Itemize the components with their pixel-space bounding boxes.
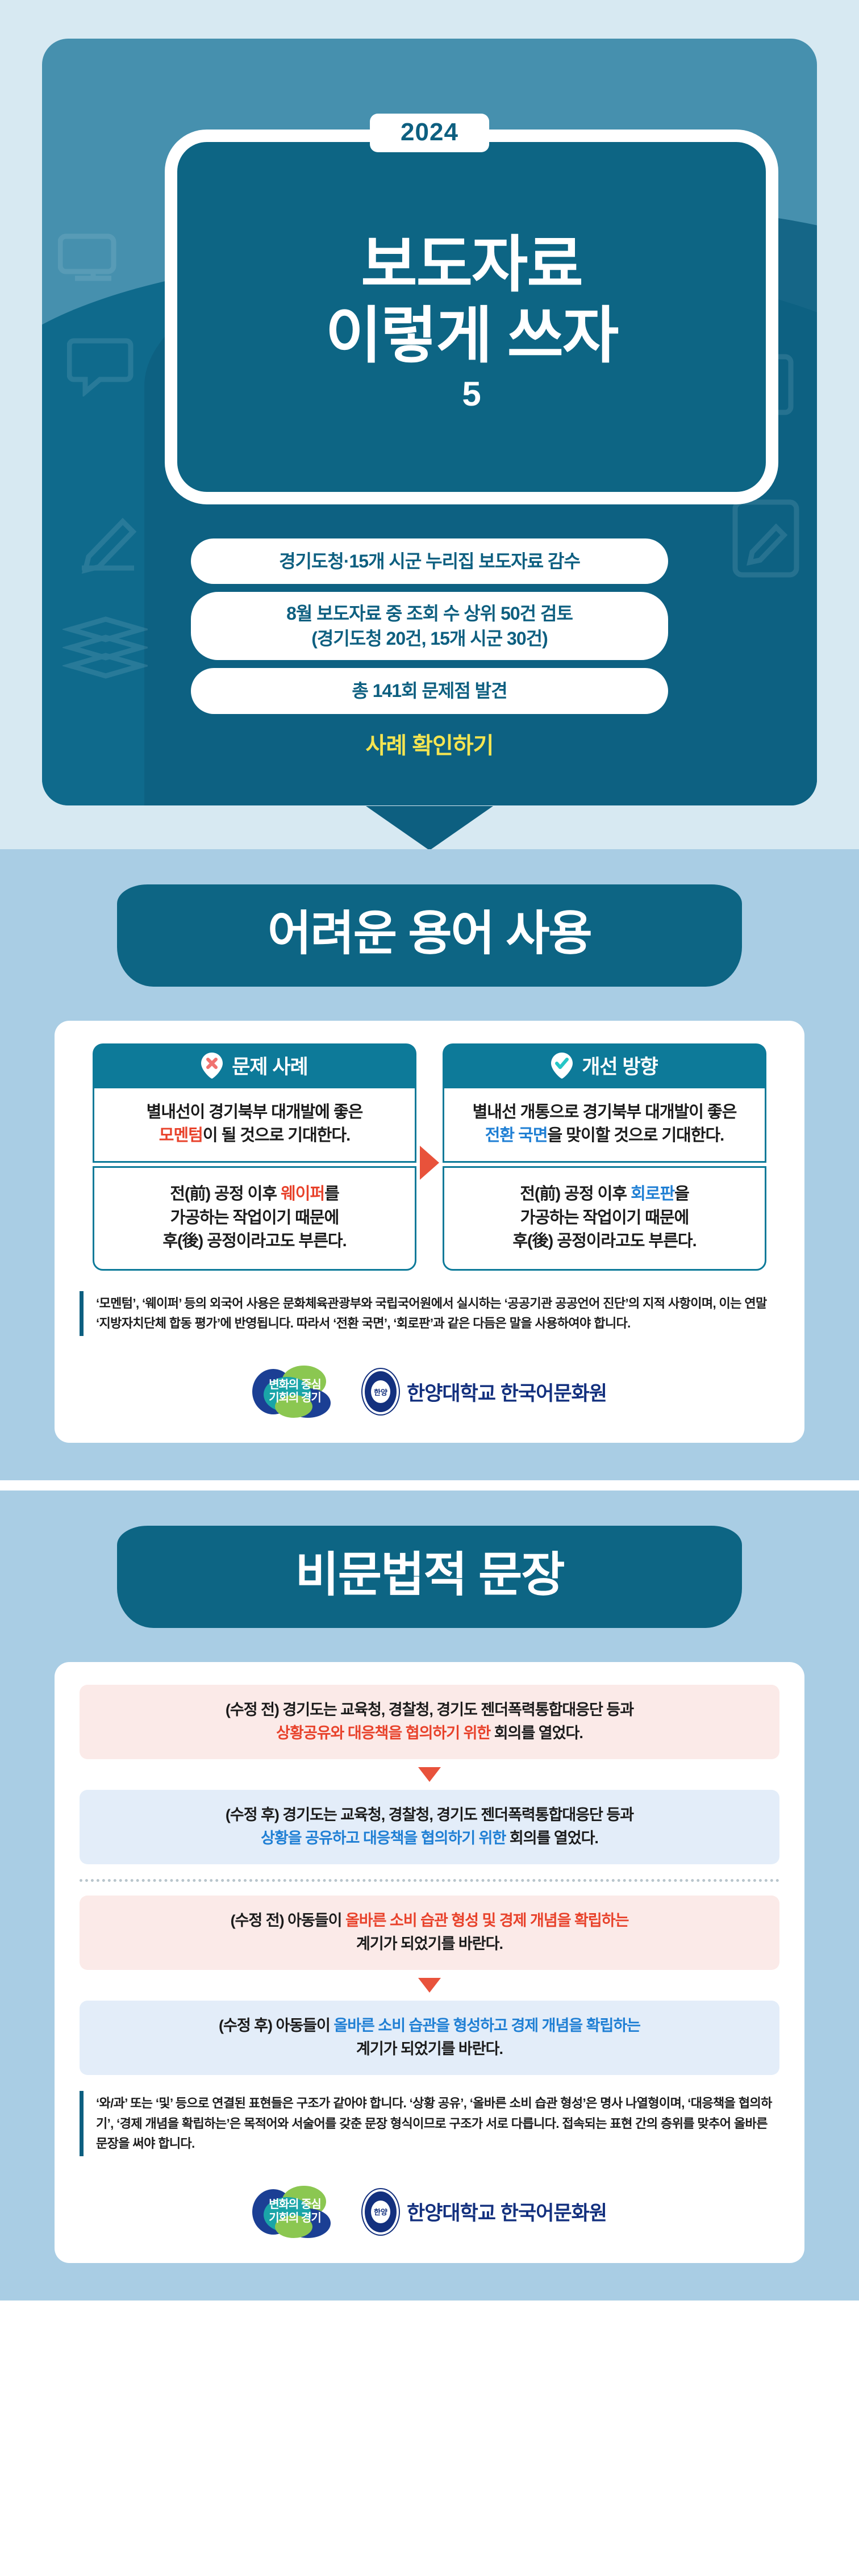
gyeonggi-logo-line2: 기회의 경기 (269, 1392, 321, 1404)
section3-pair2-before-line1: (수정 전) 아동들이 올바른 소비 습관 형성 및 경제 개념을 확립하는 (97, 1909, 762, 1932)
section2-good-box2: 전(前) 공정 이후 회로판을 가공하는 작업이기 때문에 후(後) 공정이라고… (443, 1166, 766, 1271)
section3-pair2-before-line2: 계기가 되었기를 바란다. (97, 1932, 762, 1956)
section2-bad-column: 문제 사례 별내선이 경기북부 대개발에 좋은 모멘텀이 될 것으로 기대한다.… (93, 1043, 416, 1271)
section2-bad-label: 문제 사례 (232, 1051, 308, 1080)
section2-good-label: 개선 방향 (582, 1051, 658, 1080)
section2-good-box1-line1: 별내선 개통으로 경기북부 대개발이 좋은 (452, 1101, 757, 1124)
gyeonggi-logo-line2: 기회의 경기 (269, 2212, 321, 2224)
section3-pair1-arrow-icon (418, 1767, 441, 1782)
section3-pair2-after-pre: (수정 후) 아동들이 (219, 2017, 333, 2034)
x-pin-icon (201, 1053, 223, 1079)
hanyang-seal-icon: 한양 (362, 2189, 399, 2235)
monitor-icon (58, 232, 126, 289)
gyeonggi-logo-text: 변화의 중심 기회의 경기 (269, 2198, 321, 2225)
gyeonggi-logo: 변화의 중심 기회의 경기 (252, 1366, 337, 1418)
section3-pair1-before-line1: (수정 전) 경기도는 교육청, 경찰청, 경기도 젠더폭력통합대응단 등과 (97, 1698, 762, 1722)
section2-heading-banner: 어려운 용어 사용 (117, 884, 742, 987)
speech-bubble-icon (67, 334, 135, 396)
section-ungrammatical-sentences: 비문법적 문장 (수정 전) 경기도는 교육청, 경찰청, 경기도 젠더폭력통합… (0, 1491, 859, 2301)
section2-bad-box2-line2: 가공하는 작업이기 때문에 (102, 1206, 407, 1230)
section2-bad-box2-highlight: 웨이퍼 (281, 1185, 324, 1203)
section3-pair2-after: (수정 후) 아동들이 올바른 소비 습관을 형성하고 경제 개념을 확립하는 … (80, 2001, 779, 2075)
section2-compare: 문제 사례 별내선이 경기북부 대개발에 좋은 모멘텀이 될 것으로 기대한다.… (80, 1043, 779, 1271)
section2-good-column: 개선 방향 별내선 개통으로 경기북부 대개발이 좋은 전환 국면을 맞이할 것… (443, 1043, 766, 1271)
panel-divider (0, 1480, 859, 1491)
section2-bad-header: 문제 사례 (93, 1043, 416, 1088)
section2-bad-box2-post: 를 (324, 1185, 339, 1203)
hero-down-notch (366, 806, 493, 849)
section3-pair1-after-line2: 상황을 공유하고 대응책을 협의하기 위한 회의를 열었다. (97, 1827, 762, 1850)
section3-pair2-before-highlight: 올바른 소비 습관 형성 및 경제 개념을 확립하는 (345, 1912, 628, 1929)
section2-bad-box1-rest: 이 될 것으로 기대한다. (203, 1126, 350, 1145)
section2-bad-box1-line1: 별내선이 경기북부 대개발에 좋은 (102, 1101, 407, 1124)
hero-pill-2-line1: 8월 보도자료 중 조회 수 상위 50건 검토 (223, 601, 636, 626)
hanyang-seal-text: 한양 (371, 1380, 390, 1403)
hero-title-line1: 보도자료 (361, 229, 582, 300)
compare-arrow-icon (420, 1146, 439, 1180)
section3-pair2-arrow-icon (418, 1978, 441, 1993)
section2-good-box2-pre: 전(前) 공정 이후 (520, 1185, 631, 1203)
section3-pair1-after-highlight: 상황을 공유하고 대응책을 협의하기 위한 (261, 1830, 506, 1847)
section2-good-box2-line2: 가공하는 작업이기 때문에 (452, 1206, 757, 1230)
section2-bad-box2-line1: 전(前) 공정 이후 웨이퍼를 (102, 1183, 407, 1206)
section2-footer-logos: 변화의 중심 기회의 경기 한양 한양대학교 한국어문화원 (80, 1366, 779, 1418)
section3-pair1-after-line1: (수정 후) 경기도는 교육청, 경찰청, 경기도 젠더폭력통합대응단 등과 (97, 1803, 762, 1827)
gyeonggi-logo-line1: 변화의 중심 (269, 1379, 321, 1391)
section3-pair2-after-highlight: 올바른 소비 습관을 형성하고 경제 개념을 확립하는 (333, 2017, 640, 2034)
hero-section: 2024 보도자료 이렇게 쓰자 5 경기도청·15개 시군 누리집 보도자료 … (0, 0, 859, 849)
hero-pill-list: 경기도청·15개 시군 누리집 보도자료 감수 8월 보도자료 중 조회 수 상… (42, 538, 817, 714)
hero-title-number: 5 (462, 372, 481, 416)
section2-bad-box1-highlight: 모멘텀 (159, 1126, 203, 1145)
gyeonggi-logo-line1: 변화의 중심 (269, 2198, 321, 2211)
section2-good-box2-line3: 후(後) 공정이라고도 부른다. (452, 1230, 757, 1253)
section2-good-box1: 별내선 개통으로 경기북부 대개발이 좋은 전환 국면을 맞이할 것으로 기대한… (443, 1088, 766, 1163)
section3-pair2-before: (수정 전) 아동들이 올바른 소비 습관 형성 및 경제 개념을 확립하는 계… (80, 1896, 779, 1970)
hero-card: 2024 보도자료 이렇게 쓰자 5 경기도청·15개 시군 누리집 보도자료 … (42, 39, 817, 805)
section3-heading-banner: 비문법적 문장 (117, 1526, 742, 1628)
section2-body: 문제 사례 별내선이 경기북부 대개발에 좋은 모멘텀이 될 것으로 기대한다.… (55, 1021, 804, 1443)
section3-footer-logos: 변화의 중심 기회의 경기 한양 한양대학교 한국어문화원 (80, 2186, 779, 2238)
section3-pair1-before-highlight: 상황공유와 대응책을 협의하기 위한 (276, 1725, 490, 1742)
section3-body: (수정 전) 경기도는 교육청, 경찰청, 경기도 젠더폭력통합대응단 등과 상… (55, 1662, 804, 2263)
section2-good-box1-line2: 전환 국면을 맞이할 것으로 기대한다. (452, 1124, 757, 1147)
section3-heading: 비문법적 문장 (117, 1551, 742, 1598)
hero-pill-2: 8월 보도자료 중 조회 수 상위 50건 검토 (경기도청 20건, 15개 … (191, 592, 668, 660)
section3-pair2-after-line1: (수정 후) 아동들이 올바른 소비 습관을 형성하고 경제 개념을 확립하는 (97, 2014, 762, 2038)
section2-bad-box1: 별내선이 경기북부 대개발에 좋은 모멘텀이 될 것으로 기대한다. (93, 1088, 416, 1163)
hanyang-logo-text: 한양대학교 한국어문화원 (407, 2197, 607, 2226)
section3-pair2-before-pre: (수정 전) 아동들이 (231, 1912, 345, 1929)
section2-bad-box2-pre: 전(前) 공정 이후 (170, 1185, 281, 1203)
section2-good-box2-highlight: 회로판 (631, 1185, 674, 1203)
check-pin-icon (551, 1053, 573, 1079)
hanyang-logo: 한양 한양대학교 한국어문화원 (362, 1369, 607, 1414)
section2-bad-box2: 전(前) 공정 이후 웨이퍼를 가공하는 작업이기 때문에 후(後) 공정이라고… (93, 1166, 416, 1271)
hero-cta[interactable]: 사례 확인하기 (42, 727, 817, 760)
section2-good-box2-post: 을 (674, 1185, 689, 1203)
hanyang-logo: 한양 한양대학교 한국어문화원 (362, 2189, 607, 2235)
year-badge: 2024 (370, 114, 489, 152)
section2-good-box1-highlight: 전환 국면 (485, 1126, 548, 1145)
section3-note: ‘와/과’ 또는 ‘및’ 등으로 연결된 표현들은 구조가 같아야 합니다. ‘… (80, 2091, 779, 2156)
hero-title: 보도자료 이렇게 쓰자 5 (165, 141, 778, 504)
gyeonggi-logo: 변화의 중심 기회의 경기 (252, 2186, 337, 2238)
section2-bad-box1-line2: 모멘텀이 될 것으로 기대한다. (102, 1124, 407, 1147)
gyeonggi-logo-text: 변화의 중심 기회의 경기 (269, 1379, 321, 1405)
section2-note: ‘모멘텀’, ‘웨이퍼’ 등의 외국어 사용은 문화체육관광부와 국립국어원에서… (80, 1291, 779, 1336)
section3-pair1-before-line2: 상황공유와 대응책을 협의하기 위한 회의를 열었다. (97, 1722, 762, 1745)
section3-pair1-after: (수정 후) 경기도는 교육청, 경찰청, 경기도 젠더폭력통합대응단 등과 상… (80, 1790, 779, 1864)
hanyang-seal-text: 한양 (371, 2201, 390, 2223)
section2-good-box1-rest: 을 맞이할 것으로 기대한다. (548, 1126, 724, 1145)
hero-pill-3: 총 141회 문제점 발견 (191, 668, 668, 713)
section3-pair1-after-rest: 회의를 열었다. (506, 1830, 598, 1847)
hanyang-seal-icon: 한양 (362, 1369, 399, 1414)
section3-pair2-after-line2: 계기가 되었기를 바란다. (97, 2038, 762, 2061)
section-difficult-terms: 어려운 용어 사용 문제 사례 별내선이 경기북부 (0, 849, 859, 1480)
hanyang-logo-text: 한양대학교 한국어문화원 (407, 1377, 607, 1406)
section3-separator (80, 1879, 779, 1882)
section2-good-header: 개선 방향 (443, 1043, 766, 1088)
section3-pair1-before: (수정 전) 경기도는 교육청, 경찰청, 경기도 젠더폭력통합대응단 등과 상… (80, 1685, 779, 1759)
section2-heading: 어려운 용어 사용 (117, 909, 742, 957)
hero-title-line2: 이렇게 쓰자 (326, 300, 618, 371)
hero-pill-2-line2: (경기도청 20건, 15개 시군 30건) (223, 626, 636, 651)
infographic-page: 2024 보도자료 이렇게 쓰자 5 경기도청·15개 시군 누리집 보도자료 … (0, 0, 859, 2576)
section3-pair1-before-rest: 회의를 열었다. (490, 1725, 583, 1742)
hero-pill-1: 경기도청·15개 시군 누리집 보도자료 감수 (191, 538, 668, 584)
section2-good-box2-line1: 전(前) 공정 이후 회로판을 (452, 1183, 757, 1206)
section2-bad-box2-line3: 후(後) 공정이라고도 부른다. (102, 1230, 407, 1253)
